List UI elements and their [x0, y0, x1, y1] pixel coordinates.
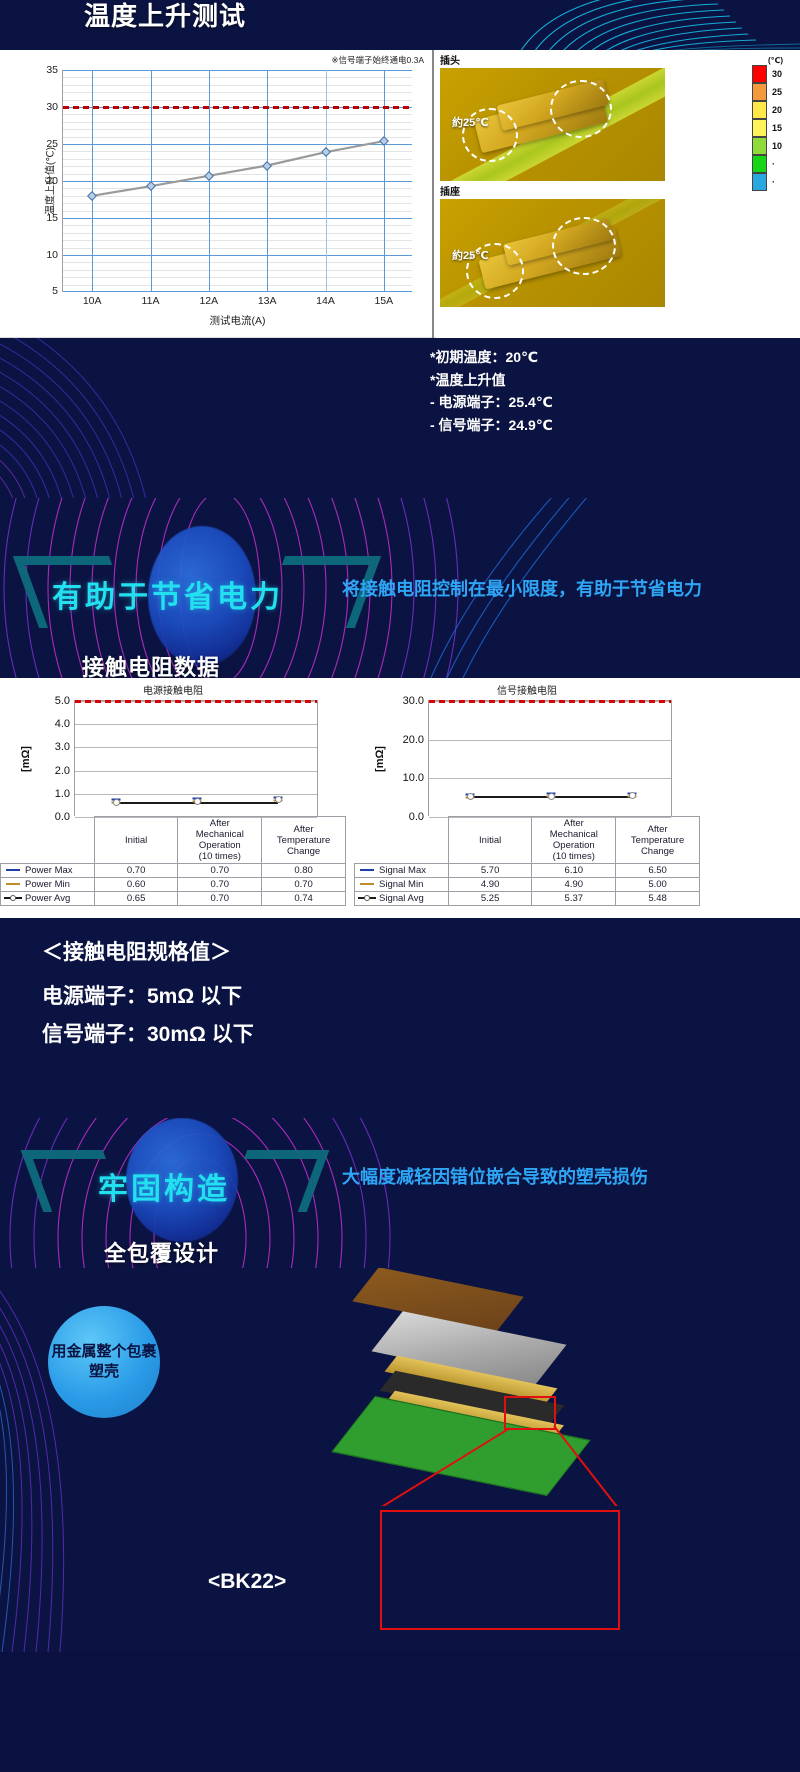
feature-title: 有助于节省电力 [52, 572, 283, 616]
x-tick: 11A [142, 295, 160, 307]
colorbar-value: 20 [772, 105, 782, 115]
feature-subheading: 接触电阻数据 [82, 650, 220, 678]
col-header-line: (10 times) [553, 851, 595, 862]
legend-cell: Signal Max [355, 864, 449, 878]
legend-line-icon [358, 866, 376, 874]
y-tick: 4.0 [55, 718, 70, 730]
colorbar-swatch [752, 83, 767, 101]
y-tick: 1.0 [55, 788, 70, 800]
slide-page: 温度上升测试 ※信号端子始终通电0.3A 温度上升值(℃) [0, 0, 800, 1652]
table-cell: 0.70 [178, 864, 262, 878]
colorbar-entry: 20 [752, 101, 798, 119]
plot-area: [mΩ] 30.0 20.0 10.0 0.0 [428, 700, 672, 816]
legend-label: Signal Min [379, 879, 423, 890]
table-cell: 5.48 [616, 892, 700, 906]
highlight-ring [552, 217, 616, 275]
legend-line-icon [358, 880, 376, 888]
column-header: After Mechanical Operation (10 times) [178, 817, 262, 864]
feature-description: 大幅度减轻因错位嵌合导致的塑壳损伤 [342, 1164, 702, 1191]
legend-cell: Signal Min [355, 878, 449, 892]
product-exploded-view [318, 1276, 712, 1506]
product-model-label: <BK22> [208, 1570, 286, 1594]
section-spec-values: ＜接触电阻规格值＞ 电源端子：5mΩ 以下 信号端子：30mΩ 以下 [0, 918, 800, 1118]
col-header-line: After [294, 824, 314, 835]
x-tick: 12A [199, 295, 218, 307]
table-cell: 0.60 [94, 878, 178, 892]
socket-thermal-image: 約25℃ [440, 199, 665, 307]
callout-lines [318, 1276, 712, 1506]
plot-area: [mΩ] 5.0 4.0 3.0 2.0 1.0 0.0 [74, 700, 318, 816]
table-cell: 0.70 [178, 878, 262, 892]
power-resistance-chart: 电源接触电阻 [mΩ] 5.0 4.0 3.0 2.0 1.0 0.0 [0, 678, 346, 918]
thermal-colorbar: (℃) 30 25 20 15 [752, 56, 798, 191]
table-cell: 0.70 [94, 864, 178, 878]
table-cell: 4.90 [532, 878, 616, 892]
table-row: Signal Avg 5.25 5.37 5.48 [355, 892, 700, 906]
y-axis-label: [mΩ] [20, 746, 32, 772]
y-tick: 30 [46, 101, 58, 113]
x-tick: 14A [316, 295, 335, 307]
colorbar-entry: 25 [752, 83, 798, 101]
col-header-line: Mechanical [550, 829, 598, 840]
y-tick: 5 [52, 285, 58, 297]
col-header-line: Temperature [631, 835, 684, 846]
y-tick: 2.0 [55, 765, 70, 777]
product-badge: 用金属整个包裹塑壳 [48, 1306, 160, 1418]
column-header: After Mechanical Operation (10 times) [532, 817, 616, 864]
table-row: Signal Max 5.70 6.10 6.50 [355, 864, 700, 878]
column-header: Initial [448, 817, 532, 864]
plug-thermal-image: 約25℃ [440, 68, 665, 181]
col-header-line: Change [641, 846, 674, 857]
plot-area: 温度上升值(℃) [62, 70, 412, 292]
y-tick: 3.0 [55, 741, 70, 753]
product-badge-label: 用金属整个包裹塑壳 [48, 1342, 160, 1383]
table-cell: 0.80 [262, 864, 346, 878]
legend-label: Power Max [25, 865, 73, 876]
data-point [274, 796, 283, 803]
feature-title: 牢固构造 [98, 1164, 230, 1208]
data-point [112, 799, 121, 806]
colorbar-value: · [772, 159, 775, 169]
feature-description: 将接触电阻控制在最小限度，有助于节省电力 [342, 576, 702, 603]
y-tick: 20.0 [403, 734, 424, 746]
col-header-line: (10 times) [199, 851, 241, 862]
highlight-ring [550, 80, 612, 138]
colorbar-swatch [752, 155, 767, 173]
table-cell: 6.10 [532, 864, 616, 878]
decorative-swirl-notes [0, 338, 800, 498]
temperature-line-chart: ※信号端子始终通电0.3A 温度上升值(℃) [0, 50, 434, 338]
note-line-1: *初期温度：20℃ [430, 346, 553, 369]
section-contact-resistance: 电源接触电阻 [mΩ] 5.0 4.0 3.0 2.0 1.0 0.0 [0, 678, 800, 918]
legend-cell: Power Max [1, 864, 95, 878]
legend-line-icon [4, 866, 22, 874]
col-header-line: Mechanical [196, 829, 244, 840]
column-header: Initial [94, 817, 178, 864]
colorbar-value: · [772, 177, 775, 187]
section-feature-sturdy: 牢固构造 大幅度减轻因错位嵌合导致的塑壳损伤 全包覆设计 [0, 1118, 800, 1268]
x-axis-label: 测试电流(A) [210, 313, 266, 328]
socket-temp-label: 約25℃ [452, 247, 489, 263]
y-tick: 5.0 [55, 695, 70, 707]
legend-cell: Power Avg [1, 892, 95, 906]
legend-line-icon [358, 894, 376, 902]
colorbar-entry: 10 [752, 137, 798, 155]
table-cell: 4.90 [448, 878, 532, 892]
legend-label: Power Min [25, 879, 70, 890]
plug-temp-label: 約25℃ [452, 114, 489, 130]
data-point [547, 793, 556, 800]
section-feature-power-saving: 有助于节省电力 将接触电阻控制在最小限度，有助于节省电力 接触电阻数据 [0, 498, 800, 678]
col-header-line: Temperature [277, 835, 330, 846]
chart-title: 电源接触电阻 [0, 682, 346, 697]
table-row: Signal Min 4.90 4.90 5.00 [355, 878, 700, 892]
column-header: After Temperature Change [262, 817, 346, 864]
colorbar-swatch [752, 119, 767, 137]
col-header-line: Operation [553, 840, 595, 851]
colorbar-value: 15 [772, 123, 782, 133]
chart-note: ※信号端子始终通电0.3A [331, 54, 424, 66]
section-temperature-chart: ※信号端子始终通电0.3A 温度上升值(℃) [0, 50, 800, 338]
y-tick: 35 [46, 64, 58, 76]
legend-label: Power Avg [25, 893, 70, 904]
section-temperature-notes: *初期温度：20℃ *温度上升值 - 电源端子：25.4℃ - 信号端子：24.… [0, 338, 800, 498]
y-tick: 25 [46, 138, 58, 150]
colorbar-value: 30 [772, 69, 782, 79]
table-cell: 5.70 [448, 864, 532, 878]
col-header-line: After [648, 824, 668, 835]
table-cell: 6.50 [616, 864, 700, 878]
data-point [628, 792, 637, 799]
table-row: Power Avg 0.65 0.70 0.74 [1, 892, 346, 906]
colorbar-swatch [752, 101, 767, 119]
socket-label: 插座 [440, 183, 800, 198]
table-row: Power Min 0.60 0.70 0.70 [1, 878, 346, 892]
colorbar-swatch [752, 65, 767, 83]
col-header-line: Initial [479, 835, 501, 846]
section-title-band: 温度上升测试 [0, 0, 800, 50]
table-header-row: Initial After Mechanical Operation (10 t… [1, 817, 346, 864]
colorbar-entry: · [752, 173, 798, 191]
column-header: After Temperature Change [616, 817, 700, 864]
col-header-line: After [210, 818, 230, 829]
colorbar-value: 10 [772, 141, 782, 151]
feature-subheading: 全包覆设计 [104, 1236, 219, 1268]
colorbar-entry: 15 [752, 119, 798, 137]
legend-label: Signal Avg [379, 893, 424, 904]
table-header-row: Initial After Mechanical Operation (10 t… [355, 817, 700, 864]
legend-line-icon [4, 894, 22, 902]
spec-line-signal: 信号端子：30mΩ 以下 [42, 1018, 254, 1048]
power-resistance-table: Initial After Mechanical Operation (10 t… [0, 816, 346, 906]
colorbar-swatch [752, 137, 767, 155]
colorbar-unit: (℃) [768, 56, 798, 65]
series-line [63, 70, 413, 292]
legend-line-icon [4, 880, 22, 888]
note-line-4: - 信号端子：24.9℃ [430, 414, 553, 437]
y-tick: 20 [46, 175, 58, 187]
table-cell: 0.70 [262, 878, 346, 892]
y-tick: 10.0 [403, 772, 424, 784]
x-tick: 15A [374, 295, 393, 307]
temperature-notes: *初期温度：20℃ *温度上升值 - 电源端子：25.4℃ - 信号端子：24.… [430, 346, 553, 437]
note-line-2: *温度上升值 [430, 369, 553, 392]
table-cell: 5.25 [448, 892, 532, 906]
y-axis-label: [mΩ] [374, 746, 386, 772]
colorbar-entry: · [752, 155, 798, 173]
page-title: 温度上升测试 [84, 0, 246, 33]
spec-line-power: 电源端子：5mΩ 以下 [42, 980, 242, 1010]
colorbar-value: 25 [772, 87, 782, 97]
data-point [466, 793, 475, 800]
spec-heading: ＜接触电阻规格值＞ [42, 936, 231, 966]
col-header-line: After [564, 818, 584, 829]
signal-resistance-chart: 信号接触电阻 [mΩ] 30.0 20.0 10.0 0.0 [354, 678, 700, 918]
col-header-line: Initial [125, 835, 147, 846]
data-point [193, 798, 202, 805]
colorbar-swatch [752, 173, 767, 191]
table-cell: 0.70 [178, 892, 262, 906]
limit-line-5mohm [75, 700, 317, 703]
colorbar-entry: 30 [752, 65, 798, 83]
legend-cell: Power Min [1, 878, 95, 892]
legend-cell: Signal Avg [355, 892, 449, 906]
detail-zoom-frame [380, 1510, 620, 1630]
col-header-line: Change [287, 846, 320, 857]
y-tick: 10 [46, 249, 58, 261]
thermal-images-panel: 插头 約25℃ 插座 約25℃ (℃) [436, 50, 800, 338]
limit-line-30mohm [429, 700, 671, 703]
table-cell: 5.37 [532, 892, 616, 906]
signal-resistance-table: Initial After Mechanical Operation (10 t… [354, 816, 700, 906]
note-line-3: - 电源端子：25.4℃ [430, 391, 553, 414]
table-cell: 0.65 [94, 892, 178, 906]
x-tick: 10A [83, 295, 102, 307]
table-cell: 0.74 [262, 892, 346, 906]
y-tick: 30.0 [403, 695, 424, 707]
table-row: Power Max 0.70 0.70 0.80 [1, 864, 346, 878]
x-tick: 13A [258, 295, 277, 307]
y-tick: 15 [46, 212, 58, 224]
section-product-illustration: 用金属整个包裹塑壳 <BK22> [0, 1268, 800, 1652]
col-header-line: Operation [199, 840, 241, 851]
table-cell: 5.00 [616, 878, 700, 892]
legend-label: Signal Max [379, 865, 426, 876]
plug-label: 插头 [440, 52, 800, 67]
